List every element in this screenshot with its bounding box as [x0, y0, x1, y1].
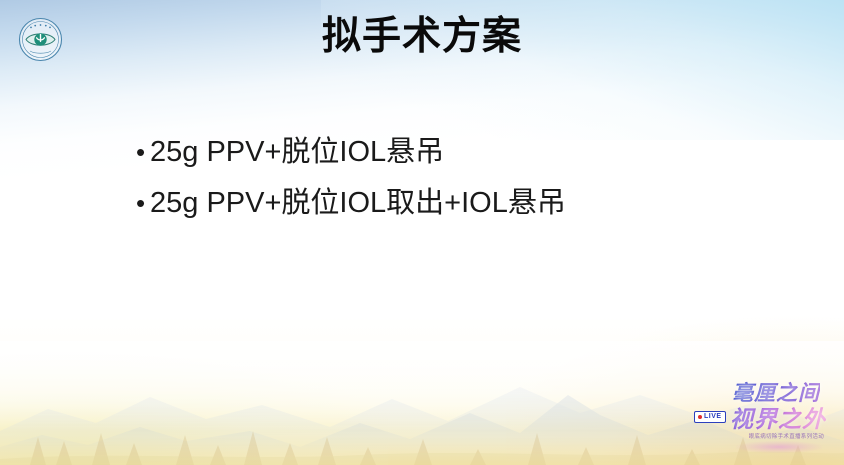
- live-badge: LIVE: [694, 411, 726, 423]
- watermark-title-line1: 毫厘之间: [732, 381, 820, 405]
- bullet-point-icon: •: [136, 183, 150, 223]
- watermark-glow-decoration: [736, 441, 822, 453]
- page-title: 拟手术方案: [0, 14, 844, 60]
- bullet-point-icon: •: [136, 132, 150, 172]
- surgical-plan-list: • 25g PPV+脱位IOL悬吊 • 25g PPV+脱位IOL取出+IOL悬…: [136, 132, 776, 234]
- live-broadcast-watermark: 毫厘之间 LIVE 视界之外 眼底病切除手术直播系列活动: [686, 381, 826, 453]
- list-item: • 25g PPV+脱位IOL悬吊: [136, 132, 776, 172]
- live-indicator-dot: [698, 415, 702, 419]
- list-item-label: 25g PPV+脱位IOL取出+IOL悬吊: [150, 183, 566, 223]
- watermark-subtitle: 眼底病切除手术直播系列活动: [749, 434, 824, 441]
- live-badge-label: LIVE: [704, 413, 722, 421]
- presentation-slide: 拟手术方案 • 25g PPV+脱位IOL悬吊 • 25g PPV+脱位IOL取…: [0, 0, 844, 465]
- list-item-label: 25g PPV+脱位IOL悬吊: [150, 132, 444, 172]
- watermark-title-line2: 视界之外: [730, 407, 826, 433]
- list-item: • 25g PPV+脱位IOL取出+IOL悬吊: [136, 183, 776, 223]
